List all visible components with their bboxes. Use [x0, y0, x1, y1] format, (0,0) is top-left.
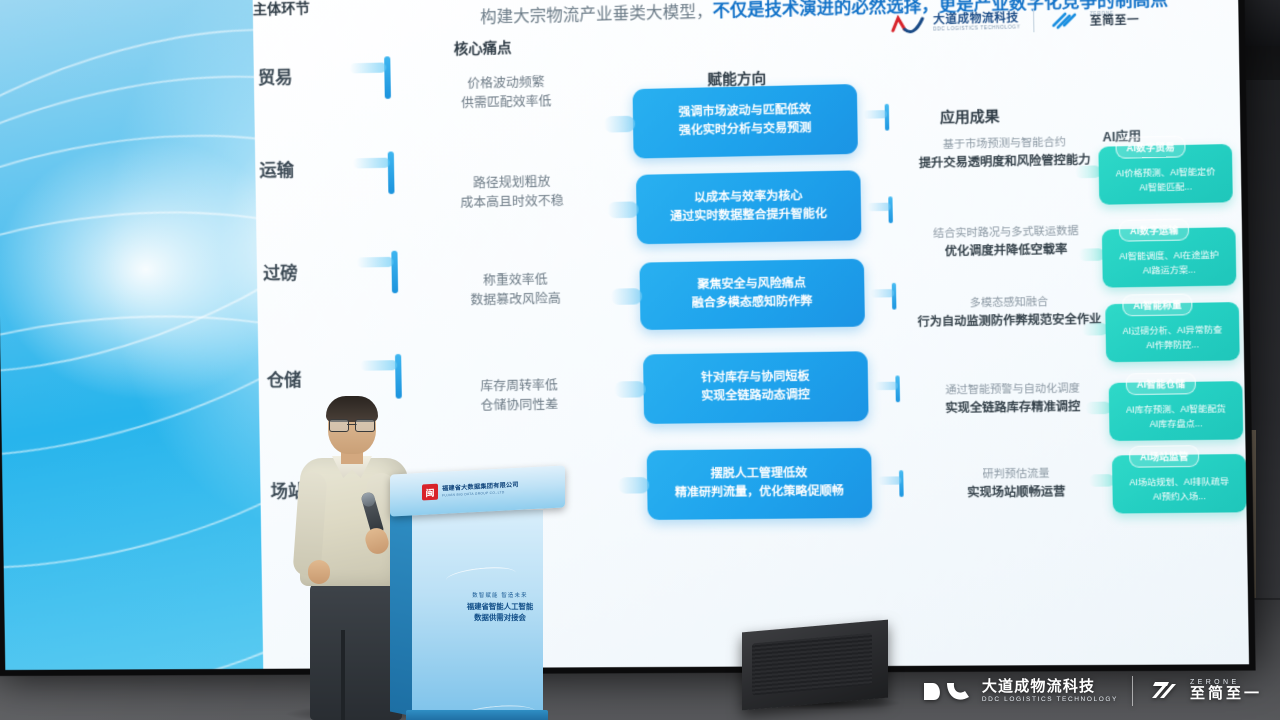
- ai-card-title: AI数字贸易: [1115, 136, 1185, 159]
- pain-line-1: 称重效率低: [437, 270, 594, 292]
- zerone-logo-icon: [1147, 678, 1181, 704]
- venue-scene: ...转型升级 构建大宗物流产业垂类大模型，不仅是技术演进的必然选择，更是产业数…: [0, 0, 1280, 720]
- capability-glow: [618, 477, 649, 494]
- ai-card-glow: [1075, 165, 1101, 178]
- ai-body-line-1: AI场站规划、AI排队疏导: [1121, 474, 1238, 490]
- podium-side-panel: [390, 495, 414, 716]
- ai-card-glow: [1089, 474, 1115, 487]
- capability-text: 以成本与效率为核心 通过实时数据整合提升智能化: [670, 188, 827, 228]
- fujian-mark-icon: 闽: [422, 484, 438, 501]
- capability-text: 强调市场波动与匹配低效 强化实时分析与交易预测: [678, 102, 811, 141]
- row-connector-bar: [391, 251, 398, 294]
- capability-line-2: 强化实时分析与交易预测: [679, 120, 812, 141]
- capability-box[interactable]: 摆脱人工管理低效 精准研判流量，优化策略促顺畅: [647, 448, 873, 520]
- result-connector-tick: [885, 104, 890, 131]
- speaker-leg-split: [341, 630, 345, 720]
- ddc-brandbar-cn: 大道成物流科技: [982, 679, 1118, 696]
- ai-body-line-1: AI价格预测、AI智能定价: [1107, 164, 1224, 181]
- pain-text: 称重效率低 数据篡改风险高: [437, 270, 595, 312]
- ai-card[interactable]: AI智能称重 AI过磅分析、AI异常防查 AI作弊防控...: [1105, 302, 1240, 362]
- ddc-name-en: DDC LOGISTICS TECHNOLOGY: [933, 25, 1020, 32]
- result-line-2: 实现场站顺畅运营: [916, 482, 1117, 503]
- row-connector-bar: [384, 56, 391, 99]
- result-text: 研判预估流量 实现场站顺畅运营: [916, 466, 1117, 503]
- capability-line-2: 融合多模态感知防作弊: [692, 293, 813, 313]
- result-line-2: 实现全链路库存精准调控: [913, 397, 1114, 419]
- slide-subtitle-plain: 构建大宗物流产业垂类大模型，: [480, 3, 713, 26]
- podium-event-line-2: 数据供需对接会: [442, 612, 558, 624]
- ddc-brandbar-en: DDC LOGISTICS TECHNOLOGY: [982, 696, 1118, 703]
- capability-text: 摆脱人工管理低效 精准研判流量，优化策略促顺畅: [675, 465, 845, 503]
- pain-line-2: 成本高且时效不稳: [434, 191, 591, 214]
- glasses-icon: [329, 419, 375, 430]
- zerone-name-cn: 至简至一: [1090, 15, 1140, 28]
- podium-front-panel: 数智赋能 智造未来 福建省智能人工智能 数据供需对接会: [412, 510, 543, 720]
- pain-text: 库存周转率低 仓储协同性差: [441, 376, 599, 418]
- zerone-mark-icon: [1047, 10, 1084, 31]
- brandbar-ddc: 大道成物流科技 DDC LOGISTICS TECHNOLOGY: [921, 678, 1118, 704]
- ai-card-glow: [1085, 402, 1111, 415]
- podium-tagline: 数智赋能 智造未来: [442, 592, 558, 601]
- result-connector-tick: [899, 470, 904, 497]
- capability-glow: [607, 201, 638, 218]
- result-line-2: 行为自动监测防作弊规范安全作业: [909, 310, 1110, 332]
- pain-text: 路径规划粗放 成本高且时效不稳: [433, 172, 591, 215]
- podium: 数智赋能 智造未来 福建省智能人工智能 数据供需对接会 闽 福建省大数据集团有限…: [390, 470, 565, 720]
- row-connector-bar: [395, 354, 402, 399]
- ai-card[interactable]: AI数字运输 AI智能调度、AI在途监护 AI路运方案...: [1102, 227, 1236, 288]
- podium-base: [406, 710, 548, 720]
- ai-card-body: AI价格预测、AI智能定价 AI智能匹配...: [1099, 162, 1233, 205]
- ddc-logo: 大道成物流科技 DDC LOGISTICS TECHNOLOGY: [891, 11, 1021, 34]
- ai-body-line-1: AI库存预测、AI智能配货: [1118, 401, 1235, 417]
- ai-card-body: AI库存预测、AI智能配货 AI库存盘点...: [1109, 399, 1243, 441]
- column-header-result: 应用成果: [940, 105, 1000, 127]
- ai-body-line-1: AI智能调度、AI在途监护: [1111, 247, 1228, 264]
- result-text: 通过智能预警与自动化调度 实现全链路库存精准调控: [912, 381, 1113, 419]
- brand-divider: [1033, 10, 1034, 33]
- speaker-legs: [310, 582, 402, 720]
- brandbar-zerone: ZERONE 至简至一: [1147, 678, 1262, 704]
- capability-box[interactable]: 强调市场波动与匹配低效 强化实时分析与交易预测: [633, 84, 858, 159]
- speaker-left-hand: [308, 560, 330, 584]
- zerone-brandbar-text: ZERONE 至简至一: [1190, 679, 1262, 703]
- capability-glow: [614, 381, 645, 398]
- ai-card[interactable]: AI场站监管 AI场站规划、AI排队疏导 AI预约入场...: [1112, 454, 1247, 514]
- ai-body-line-2: AI智能匹配...: [1108, 178, 1225, 195]
- decoration-glow: [0, 135, 263, 402]
- ai-body-line-2: AI路运方案...: [1111, 262, 1228, 279]
- pain-line-1: 库存周转率低: [441, 376, 598, 398]
- zerone-logo: ZERONE 至简至一: [1047, 8, 1139, 30]
- pain-line-2: 供需匹配效率低: [434, 92, 579, 115]
- capability-glow: [604, 116, 635, 133]
- capability-line-1: 针对库存与协同短板: [701, 369, 810, 389]
- ai-body-line-1: AI过磅分析、AI异常防查: [1114, 322, 1231, 338]
- result-line-2: 优化调度并降低空载率: [906, 240, 1107, 263]
- capability-glow: [611, 288, 642, 305]
- ai-body-line-2: AI库存盘点...: [1118, 416, 1235, 432]
- led-screen: ...转型升级 构建大宗物流产业垂类大模型，不仅是技术演进的必然选择，更是产业数…: [0, 0, 1256, 676]
- stage-label: 仓储: [267, 366, 302, 392]
- ddc-logo-icon: [921, 678, 973, 704]
- capability-line-2: 实现全链路动态调控: [701, 387, 810, 407]
- ai-card-body: AI过磅分析、AI异常防查 AI作弊防控...: [1106, 320, 1240, 363]
- slide-decoration-panel: [0, 0, 263, 670]
- ddc-logo-text: 大道成物流科技 DDC LOGISTICS TECHNOLOGY: [933, 13, 1021, 32]
- stage-label: 运输: [259, 156, 294, 182]
- ai-card-body: AI智能调度、AI在途监护 AI路运方案...: [1102, 245, 1236, 288]
- capability-box[interactable]: 针对库存与协同短板 实现全链路动态调控: [643, 351, 869, 424]
- ai-body-line-2: AI预约入场...: [1121, 488, 1238, 504]
- ai-card[interactable]: AI智能仓储 AI库存预测、AI智能配货 AI库存盘点...: [1109, 381, 1244, 441]
- result-connector-tick: [892, 283, 897, 310]
- podium-org-text: 福建省大数据集团有限公司 FUJIAN BIG DATA GROUP CO.,L…: [442, 482, 519, 497]
- result-text: 基于市场预测与智能合约 提升交易透明度和风险管控能力: [904, 134, 1105, 173]
- stage-label: 过磅: [263, 259, 298, 285]
- result-text: 结合实时路况与多式联运数据 优化调度并降低空载率: [906, 223, 1107, 262]
- capability-text: 针对库存与协同短板 实现全链路动态调控: [701, 369, 810, 407]
- ai-body-line-2: AI作弊防控...: [1114, 337, 1231, 353]
- capability-line-2: 精准研判流量，优化策略促顺畅: [675, 483, 844, 503]
- podium-event-line-1: 福建省智能人工智能: [442, 601, 558, 613]
- result-text: 多模态感知融合 行为自动监测防作弊规范安全作业: [909, 294, 1110, 332]
- stage-monitor-speaker: [742, 620, 888, 711]
- zerone-logo-text: ZERONE 至简至一: [1090, 10, 1140, 28]
- screen-surface: ...转型升级 构建大宗物流产业垂类大模型，不仅是技术演进的必然选择，更是产业数…: [0, 0, 1249, 670]
- ddc-mark-icon: [891, 14, 927, 34]
- result-connector-tick: [895, 375, 900, 402]
- ai-card-glow: [1082, 323, 1108, 336]
- column-header-stage: 主体环节: [253, 0, 310, 19]
- capability-line-2: 通过实时数据整合提升智能化: [670, 206, 827, 227]
- podium-wave-decoration: [445, 564, 516, 588]
- capability-line-1: 聚焦安全与风险痛点: [691, 275, 812, 295]
- result-connector-tick: [888, 196, 893, 223]
- capability-text: 聚焦安全与风险痛点 融合多模态感知防作弊: [691, 275, 812, 314]
- zerone-brandbar-cn: 至简至一: [1190, 686, 1262, 703]
- ddc-brandbar-text: 大道成物流科技 DDC LOGISTICS TECHNOLOGY: [982, 679, 1118, 703]
- brandbar-divider: [1132, 676, 1133, 706]
- column-header-pain: 核心痛点: [454, 37, 512, 59]
- capability-line-1: 摆脱人工管理低效: [675, 465, 844, 485]
- ai-card[interactable]: AI数字贸易 AI价格预测、AI智能定价 AI智能匹配...: [1098, 144, 1232, 205]
- ai-card-title: AI智能称重: [1122, 293, 1192, 316]
- pain-text: 价格波动频繁 供需匹配效率低: [434, 72, 579, 115]
- brand-bar: 大道成物流科技 DDC LOGISTICS TECHNOLOGY ZERONE …: [921, 676, 1262, 706]
- pain-line-2: 仓储协同性差: [441, 395, 598, 417]
- capability-box[interactable]: 以成本与效率为核心 通过实时数据整合提升智能化: [636, 170, 861, 244]
- ai-card-title: AI场站监管: [1129, 445, 1199, 468]
- ai-card-body: AI场站规划、AI排队疏导 AI预约入场...: [1112, 472, 1246, 514]
- pain-line-2: 数据篡改风险高: [437, 289, 594, 311]
- ai-card-glow: [1079, 248, 1105, 261]
- podium-event-text: 数智赋能 智造未来 福建省智能人工智能 数据供需对接会: [442, 592, 558, 624]
- ai-card-title: AI智能仓储: [1126, 372, 1196, 395]
- capability-box[interactable]: 聚焦安全与风险痛点 融合多模态感知防作弊: [639, 259, 865, 330]
- stage-label: 贸易: [258, 63, 293, 89]
- row-connector-bar: [388, 151, 395, 194]
- ai-card-title: AI数字运输: [1119, 219, 1189, 242]
